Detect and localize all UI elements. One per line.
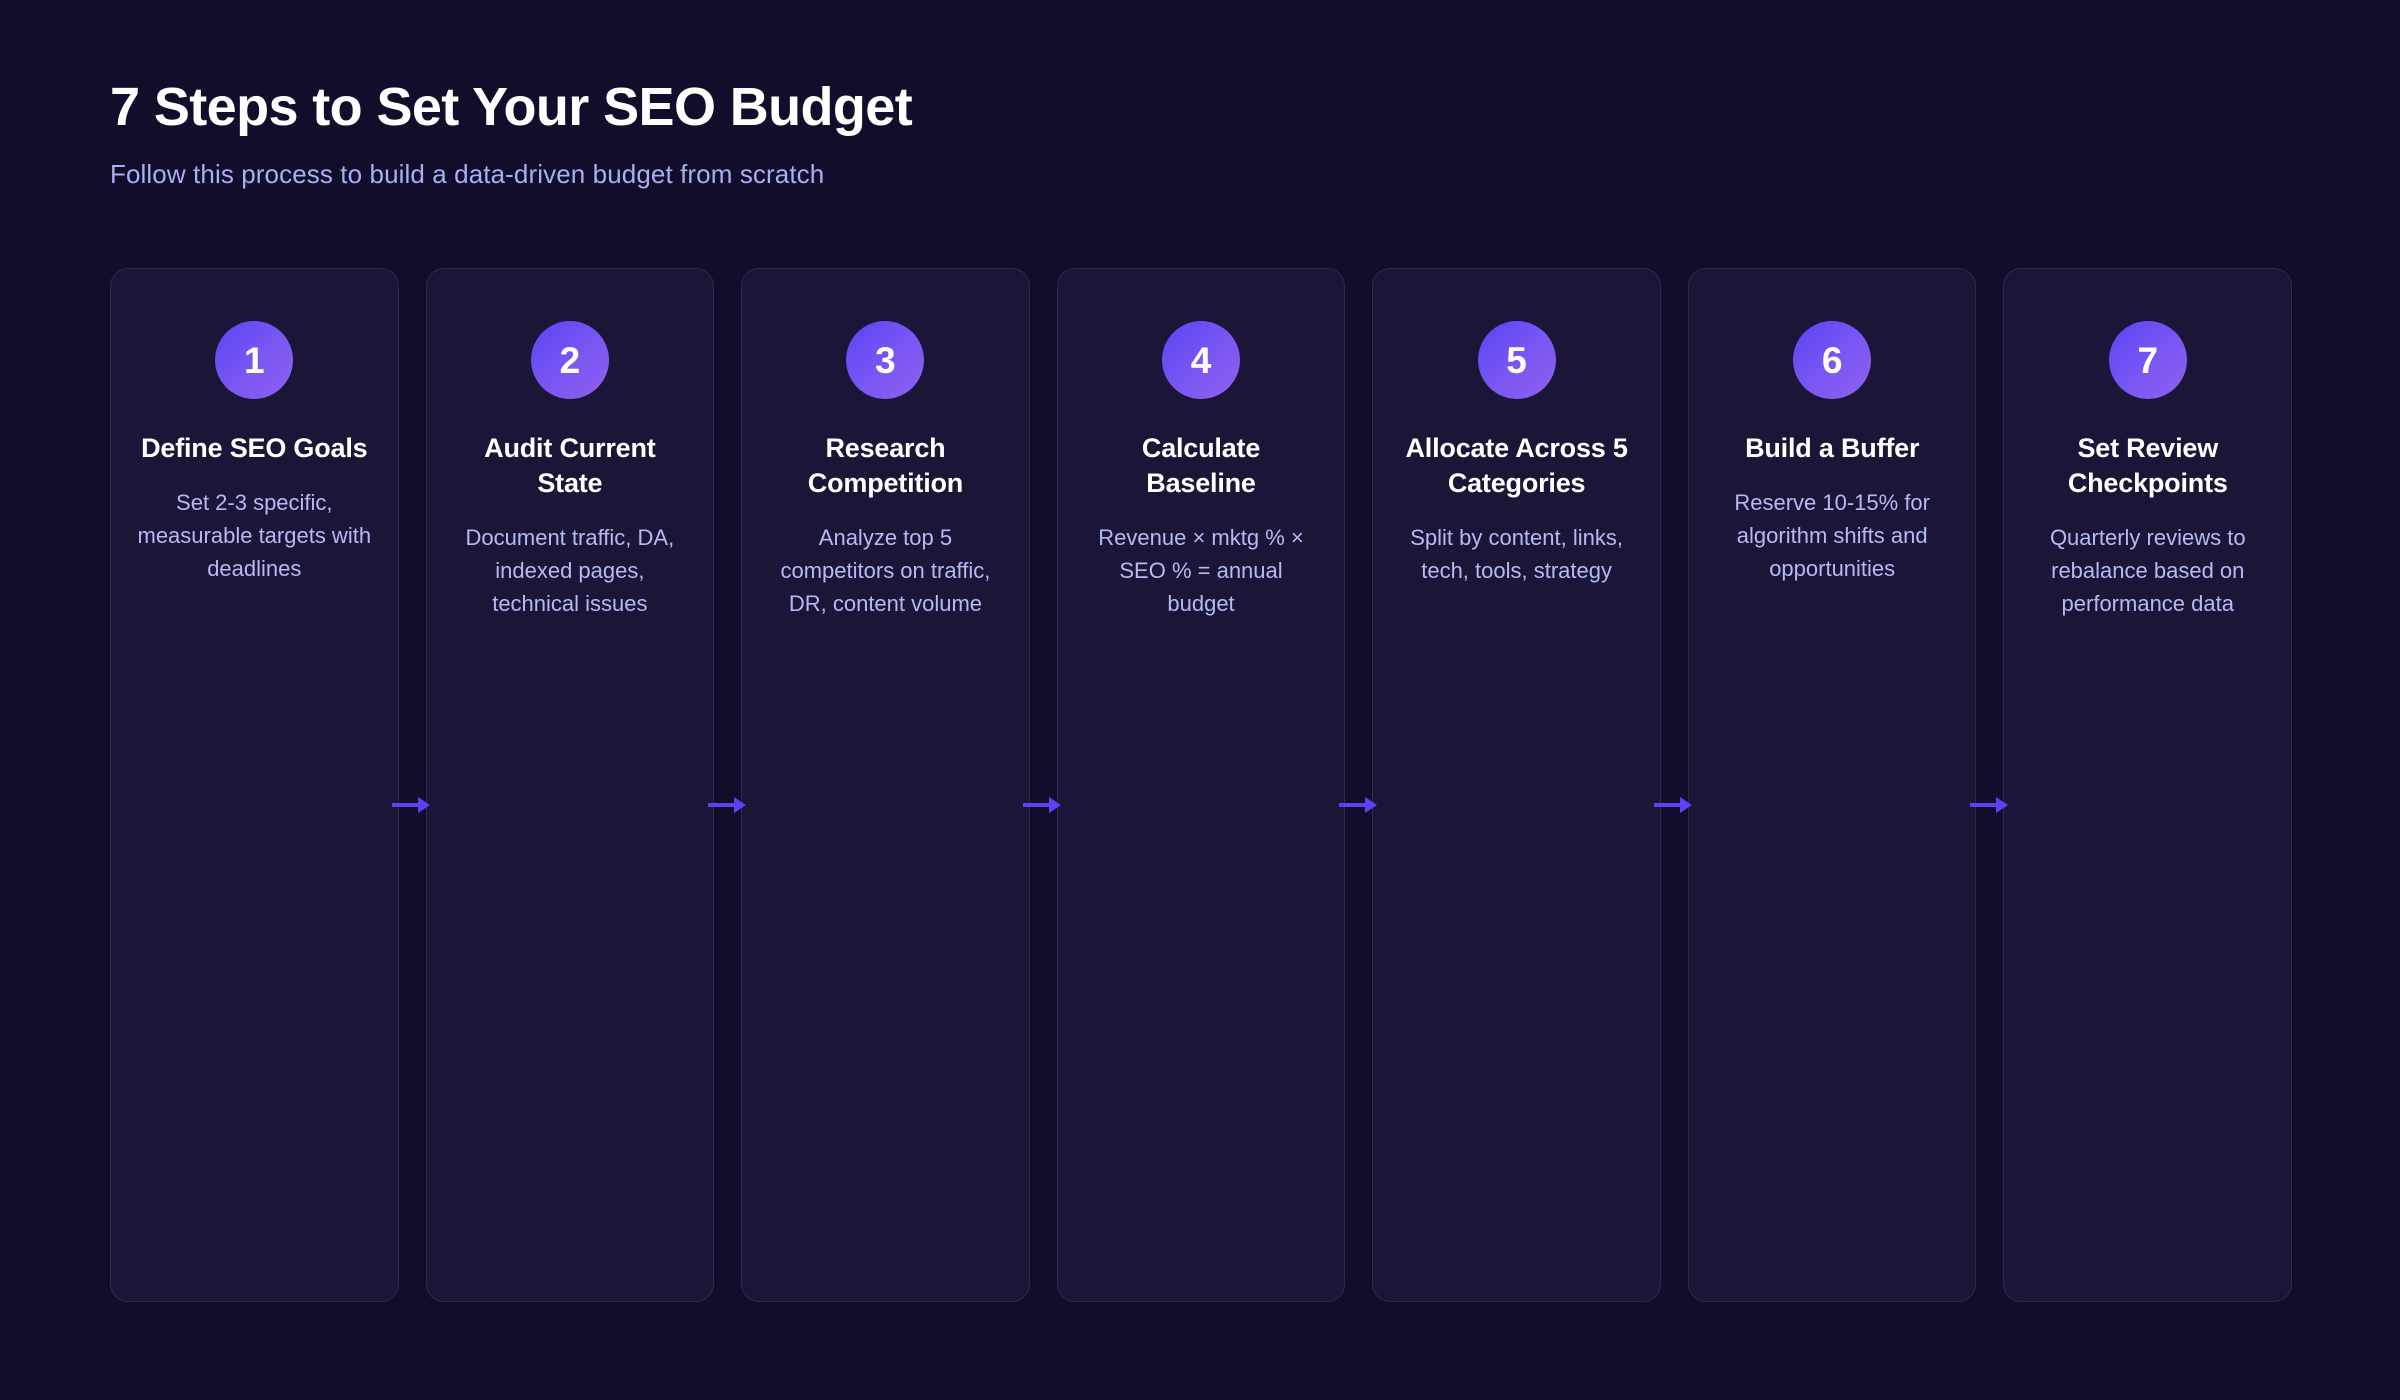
step-number-badge: 7 [2109,321,2187,399]
step-number-badge: 6 [1793,321,1871,399]
step-description: Quarterly reviews to rebalance based on … [2030,521,2265,620]
page-subtitle: Follow this process to build a data-driv… [110,159,912,190]
step-number-badge: 1 [215,321,293,399]
step-number: 6 [1822,342,1843,379]
step-number-badge: 2 [531,321,609,399]
step-number: 7 [2137,342,2158,379]
infographic-page: 7 Steps to Set Your SEO Budget Follow th… [0,0,2400,1400]
step-description: Revenue × mktg % × SEO % = annual budget [1084,521,1319,620]
step-number: 1 [244,342,265,379]
step-card[interactable]: 6Build a BufferReserve 10-15% for algori… [1688,268,1977,1302]
step-card[interactable]: 1Define SEO GoalsSet 2-3 specific, measu… [110,268,399,1302]
step-number: 3 [875,342,896,379]
step-card[interactable]: 7Set Review CheckpointsQuarterly reviews… [2003,268,2292,1302]
step-title: Allocate Across 5 Categories [1399,431,1634,501]
step-number-badge: 3 [846,321,924,399]
page-title: 7 Steps to Set Your SEO Budget [110,78,912,137]
step-number: 4 [1191,342,1212,379]
step-title: Audit Current State [453,431,688,501]
step-title: Calculate Baseline [1084,431,1319,501]
step-title: Define SEO Goals [141,431,367,466]
step-description: Split by content, links, tech, tools, st… [1399,521,1634,587]
steps-row: 1Define SEO GoalsSet 2-3 specific, measu… [110,268,2292,1302]
step-card[interactable]: 4Calculate BaselineRevenue × mktg % × SE… [1057,268,1346,1302]
step-number: 2 [560,342,581,379]
step-number: 5 [1506,342,1527,379]
step-description: Reserve 10-15% for algorithm shifts and … [1715,486,1950,585]
step-number-badge: 4 [1162,321,1240,399]
step-card[interactable]: 3Research CompetitionAnalyze top 5 compe… [741,268,1030,1302]
step-description: Set 2-3 specific, measurable targets wit… [137,486,372,585]
step-card[interactable]: 2Audit Current StateDocument traffic, DA… [426,268,715,1302]
step-description: Analyze top 5 competitors on traffic, DR… [768,521,1003,620]
step-title: Set Review Checkpoints [2030,431,2265,501]
step-number-badge: 5 [1478,321,1556,399]
page-header: 7 Steps to Set Your SEO Budget Follow th… [110,78,912,190]
step-description: Document traffic, DA, indexed pages, tec… [453,521,688,620]
step-title: Build a Buffer [1745,431,1919,466]
step-title: Research Competition [768,431,1003,501]
step-card[interactable]: 5Allocate Across 5 CategoriesSplit by co… [1372,268,1661,1302]
